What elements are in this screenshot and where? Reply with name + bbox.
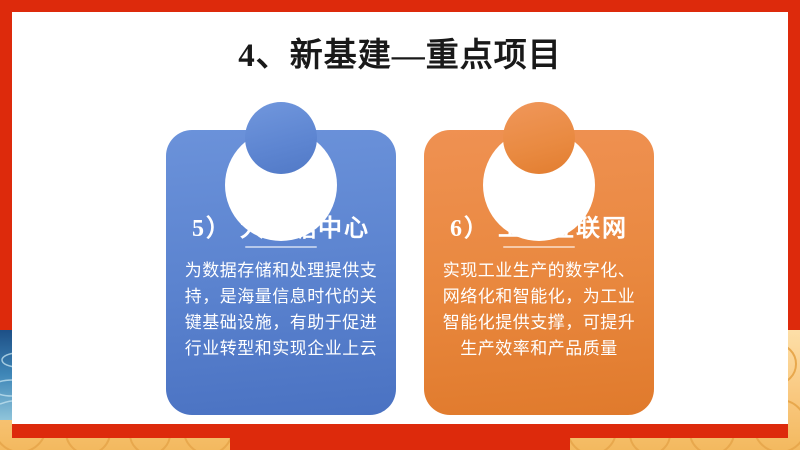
card-industrial-internet[interactable]: 6） 工业互联网 实现工业生产的数字化、网络化和智能化，为工业智能化提供支撑，可… — [424, 130, 654, 415]
card-heading: 6） 工业互联网 — [424, 208, 654, 243]
content-panel: 4、新基建—重点项目 5） 大数据中心 为数据存储和处理提供支持，是海量信息时代… — [12, 12, 788, 424]
card-divider — [503, 246, 575, 248]
slide-canvas: 4、新基建—重点项目 5） 大数据中心 为数据存储和处理提供支持，是海量信息时代… — [0, 0, 800, 450]
card-big-data-center[interactable]: 5） 大数据中心 为数据存储和处理提供支持，是海量信息时代的关键基础设施，有助于… — [166, 130, 396, 415]
card-body: 5） 大数据中心 为数据存储和处理提供支持，是海量信息时代的关键基础设施，有助于… — [166, 130, 396, 415]
red-accent-band — [12, 424, 788, 438]
card-description: 实现工业生产的数字化、网络化和智能化，为工业智能化提供支撑，可提升生产效率和产品… — [442, 258, 636, 362]
card-heading: 5） 大数据中心 — [166, 208, 396, 243]
card-body: 6） 工业互联网 实现工业生产的数字化、网络化和智能化，为工业智能化提供支撑，可… — [424, 130, 654, 415]
cards-container: 5） 大数据中心 为数据存储和处理提供支持，是海量信息时代的关键基础设施，有助于… — [12, 12, 788, 424]
card-divider — [245, 246, 317, 248]
card-description: 为数据存储和处理提供支持，是海量信息时代的关键基础设施，有助于促进行业转型和实现… — [184, 258, 378, 362]
